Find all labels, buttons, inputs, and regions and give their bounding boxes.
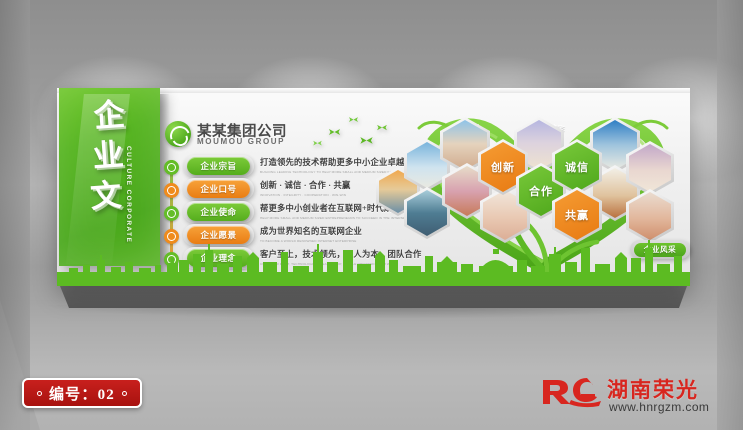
title-char-2: 业 (72, 134, 145, 179)
list-row-pill[interactable]: 企业口号 (187, 180, 250, 198)
list-row-pill[interactable]: 企业宗旨 (187, 157, 250, 175)
panel-title-cn: 企 业 文 (68, 94, 151, 259)
list-row-pill[interactable]: 企业使命 (187, 203, 250, 221)
title-char-3: 文 (65, 173, 148, 218)
panel-title-en: CULTURE CORPORATE (125, 146, 132, 243)
city-skyline-silhouette (57, 238, 690, 286)
culture-wall-board: 企 业 文 CULTURE CORPORATE 某某集团公司 MOUMOU GR… (57, 88, 690, 286)
id-tag-ring-left (37, 391, 42, 396)
list-row-dot-icon (164, 206, 179, 221)
butterfly-icon (313, 140, 322, 147)
id-tag: 编号：02 (22, 378, 142, 408)
leaf-circle-logo-icon (165, 121, 191, 147)
company-name-en: MOUMOU GROUP (197, 137, 285, 146)
butterfly-icon (377, 124, 387, 132)
brand-url: www.hnrgzm.com (609, 400, 709, 414)
room-right-corner (717, 0, 743, 430)
board-base-plinth (57, 286, 690, 308)
list-row-dot-icon (164, 160, 179, 175)
butterfly-icon (349, 116, 358, 124)
list-row-dot-icon (164, 183, 179, 198)
title-char-1: 企 (77, 94, 142, 138)
id-tag-ring-right (122, 391, 127, 396)
rg-logo-icon (541, 376, 603, 408)
butterfly-icon (329, 128, 340, 137)
id-tag-label: 编号：02 (49, 383, 115, 404)
brand-watermark: 湖南荣光 www.hnrgzm.com (541, 374, 731, 422)
butterfly-icon (360, 136, 373, 146)
scene-root: 企 业 文 CULTURE CORPORATE 某某集团公司 MOUMOU GR… (0, 0, 743, 430)
company-logo-block: 某某集团公司 MOUMOU GROUP (165, 120, 345, 152)
